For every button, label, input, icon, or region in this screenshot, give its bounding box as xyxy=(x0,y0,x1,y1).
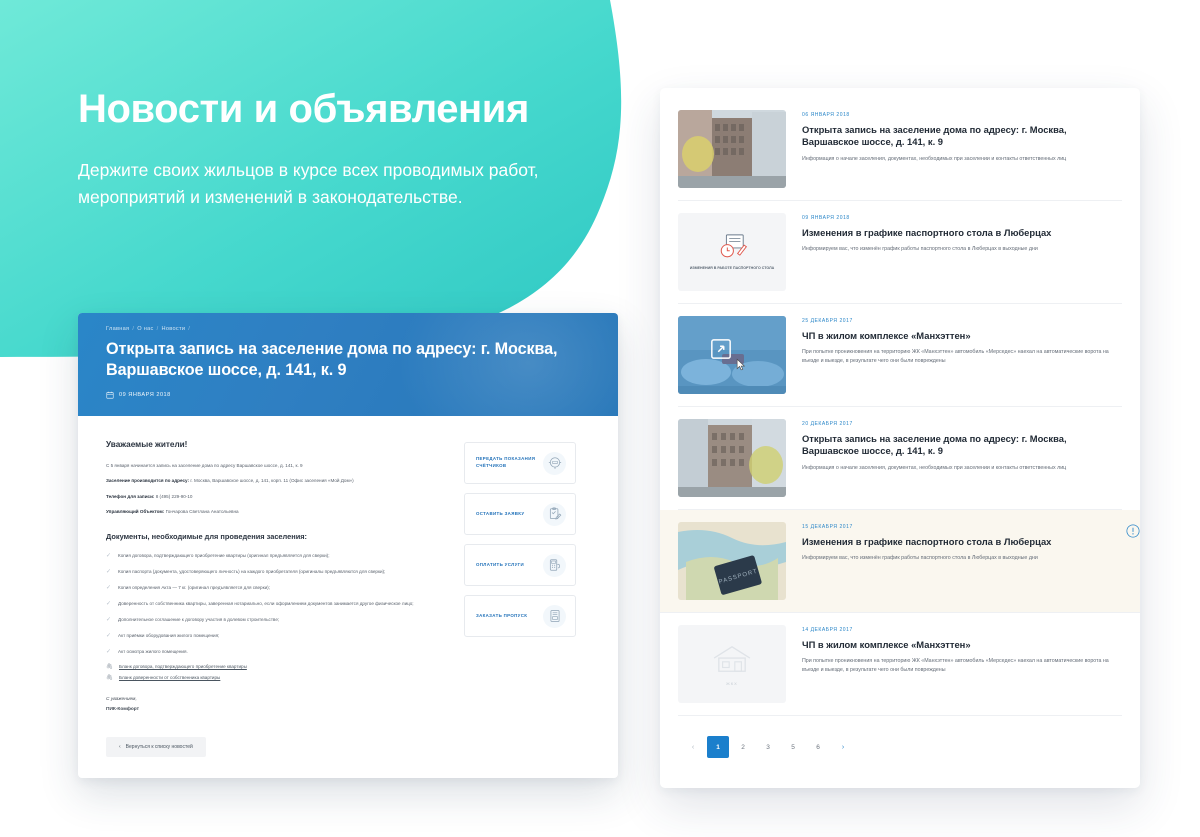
calendar-icon xyxy=(106,391,114,399)
check-icon: ✓ xyxy=(106,632,111,641)
breadcrumb-item-about[interactable]: О нас xyxy=(137,326,153,332)
news-date: 20 ДЕКАБРЯ 2017 xyxy=(802,421,1122,427)
breadcrumb-item-news[interactable]: Новости xyxy=(162,326,186,332)
news-list-item[interactable]: 25 ДЕКАБРЯ 2017 ЧП в жилом комплексе «Ма… xyxy=(678,304,1122,407)
action-label: ОСТАВИТЬ ЗАЯВКУ xyxy=(476,511,524,518)
document-text: Доверенность от собственника квартиры, з… xyxy=(118,600,414,609)
news-list-item[interactable]: ЖКХ 14 ДЕКАБРЯ 2017 ЧП в жилом комплексе… xyxy=(678,613,1122,716)
news-title[interactable]: Изменения в графике паспортного стола в … xyxy=(802,227,1122,239)
download-link-row[interactable]: 🖇 Бланк договора, подтверждающего приобр… xyxy=(106,664,446,670)
news-list-item[interactable]: 06 ЯНВАРЯ 2018 Открыта запись на заселен… xyxy=(678,98,1122,201)
news-date: 15 ДЕКАБРЯ 2017 xyxy=(802,524,1122,530)
pagination-page-3[interactable]: 3 xyxy=(757,736,779,758)
news-title[interactable]: Открыта запись на заселение дома по адре… xyxy=(802,124,1122,149)
pagination-next-button[interactable]: › xyxy=(832,736,854,758)
paragraph-text: С 5 января начинается запись на заселени… xyxy=(106,463,303,468)
pass-document-icon xyxy=(543,605,566,628)
article-title: Открыта запись на заселение дома по адре… xyxy=(106,339,590,380)
document-item: ✓ Акт осмотра жилого помещения. xyxy=(106,648,446,657)
news-date: 09 ЯНВАРЯ 2018 xyxy=(802,215,1122,221)
news-text-block: 15 ДЕКАБРЯ 2017 Изменения в графике пасп… xyxy=(802,522,1122,600)
document-text: Акт осмотра жилого помещения. xyxy=(118,648,188,657)
payment-terminal-icon xyxy=(543,554,566,577)
news-text-block: 09 ЯНВАРЯ 2018 Изменения в графике паспо… xyxy=(802,213,1122,291)
document-item: ✓ Копия паспорта (документа, удостоверяю… xyxy=(106,568,446,577)
news-list-item[interactable]: 20 ДЕКАБРЯ 2017 Открыта запись на заселе… xyxy=(678,407,1122,510)
download-link[interactable]: Бланк договора, подтверждающего приобрет… xyxy=(119,664,247,669)
chevron-left-icon: ‹ xyxy=(119,744,121,750)
article-date-row: 09 ЯНВАРЯ 2018 xyxy=(106,391,590,399)
paragraph-lead: Управляющий Объектом: xyxy=(106,509,164,514)
news-thumbnail-building xyxy=(678,419,786,497)
pagination-page-6[interactable]: 6 xyxy=(807,736,829,758)
document-text: Копия паспорта (документа, удостоверяюще… xyxy=(118,568,385,577)
article-greeting: Уважаемые жители! xyxy=(106,440,446,449)
document-text: Акт приёмки оборудования жилого помещени… xyxy=(118,632,219,641)
document-text: Дополнительное соглашение к договору уча… xyxy=(118,616,279,625)
signature-line-2: ПИК-Комфорт xyxy=(106,707,139,712)
document-text: Копия определения Акта — 7 кг. (оригинал… xyxy=(118,584,270,593)
article-paragraph: Телефон для записи: 8 (495) 229-90-10 xyxy=(106,493,446,501)
check-icon: ✓ xyxy=(106,600,111,609)
news-text-block: 20 ДЕКАБРЯ 2017 Открыта запись на заселе… xyxy=(802,419,1122,497)
document-item: ✓ Акт приёмки оборудования жилого помеще… xyxy=(106,632,446,641)
action-order-pass[interactable]: ЗАКАЗАТЬ ПРОПУСК xyxy=(464,595,576,637)
hero-section: Новости и объявления Держите своих жильц… xyxy=(78,88,618,211)
news-text-block: 06 ЯНВАРЯ 2018 Открыта запись на заселен… xyxy=(802,110,1122,188)
news-description: При попытке проникновения на территорию … xyxy=(802,657,1122,675)
document-item: ✓ Доверенность от собственника квартиры,… xyxy=(106,600,446,609)
document-item: ✓ Копия определения Акта — 7 кг. (оригин… xyxy=(106,584,446,593)
breadcrumb-item-home[interactable]: Главная xyxy=(106,326,129,332)
news-title[interactable]: ЧП в жилом комплексе «Манхэттен» xyxy=(802,330,1122,342)
house-outline-icon xyxy=(710,643,754,675)
news-list-panel: 06 ЯНВАРЯ 2018 Открыта запись на заселен… xyxy=(660,88,1140,788)
news-description: Информируем вас, что изменён график рабо… xyxy=(802,245,1122,254)
thumbnail-caption: ЖКХ xyxy=(726,681,738,686)
news-thumbnail-placeholder: ЖКХ xyxy=(678,625,786,703)
action-label: ОПЛАТИТЬ УСЛУГИ xyxy=(476,562,524,569)
document-clock-icon xyxy=(713,233,751,261)
breadcrumb[interactable]: Главная/О нас/Новости/ xyxy=(106,326,590,332)
news-description: Информируем вас, что изменён график рабо… xyxy=(802,554,1122,563)
news-date: 14 ДЕКАБРЯ 2017 xyxy=(802,627,1122,633)
article-header: Главная/О нас/Новости/ Открыта запись на… xyxy=(78,313,618,416)
paragraph-text: Гончарова Светлана Анатольевна xyxy=(164,509,238,514)
action-pay-services[interactable]: ОПЛАТИТЬ УСЛУГИ xyxy=(464,544,576,586)
back-button-label: Вернуться к списку новостей xyxy=(126,744,193,750)
article-actions-sidebar: ПЕРЕДАТЬ ПОКАЗАНИЯ СЧЁТЧИКОВ ОСТАВИТЬ ЗА… xyxy=(464,440,576,757)
article-paragraph: Управляющий Объектом: Гончарова Светлана… xyxy=(106,508,446,516)
thumbnail-caption: ИЗМЕНЕНИЯ В РАБОТЕ ПАСПОРТНОГО СТОЛА xyxy=(690,266,774,271)
article-paragraph: С 5 января начинается запись на заселени… xyxy=(106,462,446,470)
paragraph-text: 8 (495) 229-90-10 xyxy=(154,494,192,499)
news-thumbnail-building xyxy=(678,110,786,188)
news-title[interactable]: ЧП в жилом комплексе «Манхэттен» xyxy=(802,639,1122,651)
action-label: ЗАКАЗАТЬ ПРОПУСК xyxy=(476,613,527,620)
pagination-prev-button[interactable]: ‹ xyxy=(682,736,704,758)
check-icon: ✓ xyxy=(106,552,111,561)
exclamation-circle-icon[interactable] xyxy=(1126,524,1140,538)
pagination: ‹ 1 2 3 5 6 › xyxy=(678,716,1122,758)
news-list-item[interactable]: ИЗМЕНЕНИЯ В РАБОТЕ ПАСПОРТНОГО СТОЛА 09 … xyxy=(678,201,1122,304)
pagination-page-5[interactable]: 5 xyxy=(782,736,804,758)
expand-icon[interactable] xyxy=(710,338,732,360)
news-thumbnail-passport-schedule: ИЗМЕНЕНИЯ В РАБОТЕ ПАСПОРТНОГО СТОЛА xyxy=(678,213,786,291)
news-title[interactable]: Открыта запись на заселение дома по адре… xyxy=(802,433,1122,458)
documents-heading: Документы, необходимые для проведения за… xyxy=(106,532,446,541)
page-title: Новости и объявления xyxy=(78,88,618,130)
check-icon: ✓ xyxy=(106,584,111,593)
news-thumbnail-cars-gate[interactable] xyxy=(678,316,786,394)
news-description: Информация о начале заселения, документа… xyxy=(802,464,1122,473)
article-paragraph: Заселение производится по адресу: г. Мос… xyxy=(106,477,446,485)
article-main-column: Уважаемые жители! С 5 января начинается … xyxy=(106,440,446,757)
news-text-block: 14 ДЕКАБРЯ 2017 ЧП в жилом комплексе «Ма… xyxy=(802,625,1122,703)
action-submit-request[interactable]: ОСТАВИТЬ ЗАЯВКУ xyxy=(464,493,576,535)
download-link[interactable]: Бланк доверенности от собственника кварт… xyxy=(119,675,220,680)
check-icon: ✓ xyxy=(106,648,111,657)
paragraph-text: г. Москва, Варшавское шоссе, д. 141, кор… xyxy=(189,478,354,483)
paragraph-lead: Телефон для записи: xyxy=(106,494,154,499)
document-text: Копия договора, подтверждающего приобрет… xyxy=(118,552,329,561)
news-title[interactable]: Изменения в графике паспортного стола в … xyxy=(802,536,1122,548)
news-date: 06 ЯНВАРЯ 2018 xyxy=(802,112,1122,118)
document-item: ✓ Копия договора, подтверждающего приобр… xyxy=(106,552,446,561)
news-description: Информация о начале заселения, документа… xyxy=(802,155,1122,164)
news-text-block: 25 ДЕКАБРЯ 2017 ЧП в жилом комплексе «Ма… xyxy=(802,316,1122,394)
back-to-news-button[interactable]: ‹ Вернуться к списку новостей xyxy=(106,737,206,757)
news-thumbnail-passport-map: PASSPORT xyxy=(678,522,786,600)
signature-line-1: С уважением, xyxy=(106,695,446,705)
pagination-page-2[interactable]: 2 xyxy=(732,736,754,758)
check-icon: ✓ xyxy=(106,616,111,625)
news-list-item-highlighted[interactable]: PASSPORT 15 ДЕКАБРЯ 2017 Изменения в гра… xyxy=(660,510,1140,613)
paperclip-icon: 🖇 xyxy=(106,675,113,681)
pagination-page-1[interactable]: 1 xyxy=(707,736,729,758)
news-description: При попытке проникновения на территорию … xyxy=(802,348,1122,366)
signature: С уважением, ПИК-Комфорт xyxy=(106,695,446,715)
cursor-pointer-icon xyxy=(734,358,749,373)
clipboard-pen-icon xyxy=(543,503,566,526)
paragraph-lead: Заселение производится по адресу: xyxy=(106,478,189,483)
news-date: 25 ДЕКАБРЯ 2017 xyxy=(802,318,1122,324)
article-card: Главная/О нас/Новости/ Открыта запись на… xyxy=(78,313,618,778)
paperclip-icon: 🖇 xyxy=(106,664,113,670)
check-icon: ✓ xyxy=(106,568,111,577)
document-item: ✓ Дополнительное соглашение к договору у… xyxy=(106,616,446,625)
download-link-row[interactable]: 🖇 Бланк доверенности от собственника ква… xyxy=(106,675,446,681)
article-date: 09 ЯНВАРЯ 2018 xyxy=(119,392,171,398)
page-subtitle: Держите своих жильцов в курсе всех прово… xyxy=(78,157,593,211)
